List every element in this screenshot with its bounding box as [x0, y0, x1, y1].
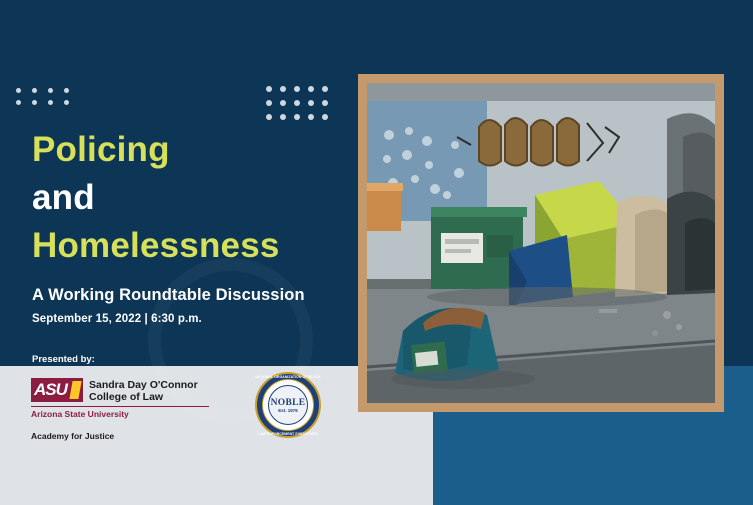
- dot: [294, 114, 300, 120]
- title-line-2: and: [32, 174, 402, 222]
- noble-seal-logo: NATIONAL ORGANIZATION OF BLACK NOBLE Est…: [255, 372, 321, 438]
- asu-logo-lockup: ASU Sandra Day O'Connor College of Law A…: [31, 378, 216, 441]
- noble-established: Est. 1976: [255, 408, 321, 413]
- dot: [266, 114, 272, 120]
- dot: [322, 86, 328, 92]
- dot: [322, 100, 328, 106]
- asu-unit-name: Academy for Justice: [31, 431, 216, 441]
- dot: [280, 86, 286, 92]
- title-line-1: Policing: [32, 126, 402, 174]
- dot: [322, 114, 328, 120]
- decorative-dot-grid-left: [16, 88, 80, 112]
- dot: [48, 100, 53, 105]
- asu-wordmark-icon: ASU: [31, 378, 83, 402]
- dot: [266, 100, 272, 106]
- asu-college-name-line-2: College of Law: [89, 391, 198, 403]
- poster-canvas: Policing and Homelessness A Working Roun…: [0, 0, 753, 505]
- dot: [308, 100, 314, 106]
- page-title: Policing and Homelessness: [32, 126, 402, 270]
- dot: [266, 86, 272, 92]
- dot: [280, 114, 286, 120]
- dot: [32, 88, 37, 93]
- dot: [280, 100, 286, 106]
- noble-arc-bottom-text: LAW ENFORCEMENT EXECUTIVES: [255, 432, 321, 436]
- photo-frame: [358, 74, 724, 412]
- presented-by-label: Presented by:: [32, 354, 95, 365]
- noble-arc-top-text: NATIONAL ORGANIZATION OF BLACK: [255, 375, 321, 379]
- asu-college-name-line-1: Sandra Day O'Connor: [89, 379, 198, 391]
- dot: [308, 86, 314, 92]
- dot: [308, 114, 314, 120]
- dot: [64, 100, 69, 105]
- asu-college-name: Sandra Day O'Connor College of Law: [89, 378, 198, 403]
- dot: [294, 100, 300, 106]
- dot: [64, 88, 69, 93]
- dot: [16, 100, 21, 105]
- photo-illustration: [367, 83, 715, 403]
- dot: [16, 88, 21, 93]
- dot: [32, 100, 37, 105]
- asu-mark-letters: ASU: [34, 380, 67, 400]
- event-subtitle: A Working Roundtable Discussion: [32, 286, 305, 305]
- asu-university-name: Arizona State University: [31, 406, 209, 419]
- dot: [48, 88, 53, 93]
- event-photo: [367, 83, 715, 403]
- decorative-dot-grid-right: [266, 86, 336, 128]
- noble-acronym: NOBLE: [255, 398, 321, 408]
- dot: [294, 86, 300, 92]
- event-datetime: September 15, 2022 | 6:30 p.m.: [32, 313, 202, 325]
- title-line-3: Homelessness: [32, 222, 402, 270]
- asu-gold-bar: [69, 381, 81, 399]
